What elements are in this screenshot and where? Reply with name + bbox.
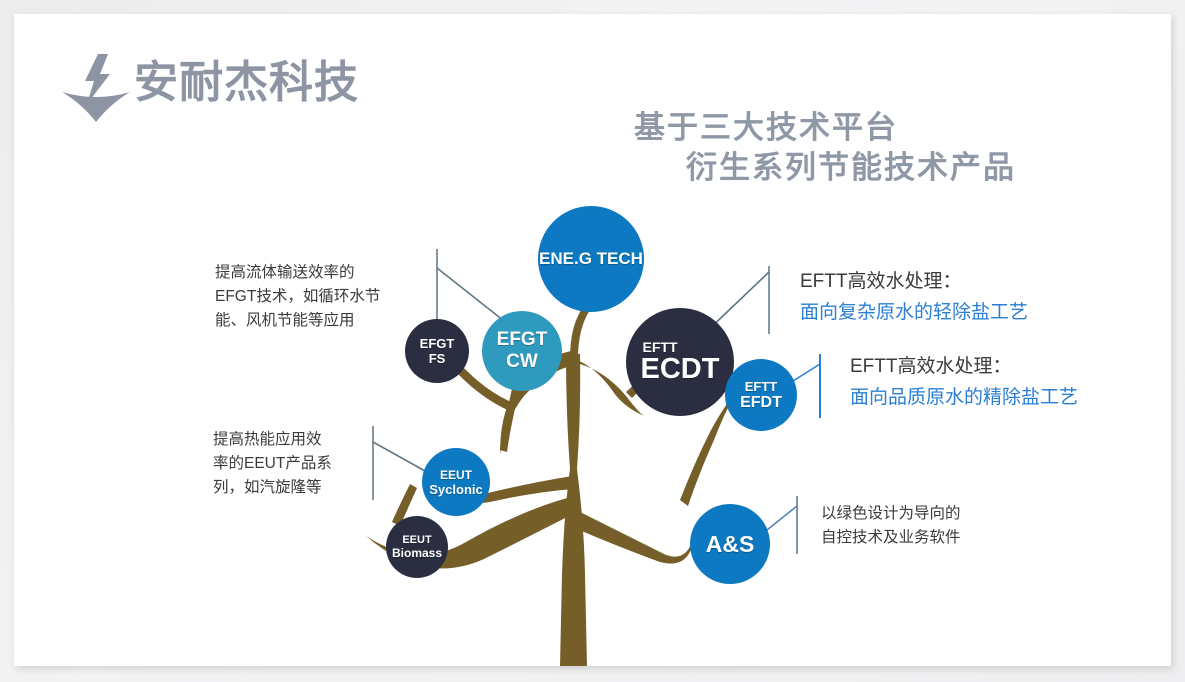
- annotation-line: 列，如汽旋隆等: [213, 476, 363, 500]
- node-label-top: EEUT: [402, 534, 431, 546]
- annotation-right-as: 以绿色设计为导向的 自控技术及业务软件: [821, 502, 1041, 550]
- node-efgt-cw[interactable]: EFGT CW: [482, 311, 562, 391]
- node-label-main: ENE.G TECH: [539, 249, 643, 269]
- node-label-main: ECDT: [641, 353, 720, 386]
- annotation-line: 能、风机节能等应用: [215, 309, 405, 333]
- node-label-top: EEUT: [440, 468, 472, 482]
- annotation-left-eeut: 提高热能应用效 率的EEUT产品系 列，如汽旋隆等: [213, 428, 363, 500]
- node-label-main: Biomass: [392, 546, 442, 560]
- annotation-line: EFTT高效水处理：: [850, 351, 1185, 382]
- node-eeut-biomass[interactable]: EEUT Biomass: [386, 516, 448, 578]
- annotation-line-highlight: 面向品质原水的精除盐工艺: [850, 382, 1185, 413]
- slide-card: 安耐杰科技 基于三大技术平台 衍生系列节能技术产品: [14, 14, 1171, 666]
- annotation-left-efgt: 提高流体输送效率的 EFGT技术，如循环水节 能、风机节能等应用: [215, 261, 405, 333]
- node-label-main: CW: [506, 351, 538, 373]
- annotation-line-highlight: 面向复杂原水的轻除盐工艺: [800, 297, 1140, 328]
- annotation-line: EFGT技术，如循环水节: [215, 285, 405, 309]
- annotation-line: 率的EEUT产品系: [213, 452, 363, 476]
- node-eftt-efdt[interactable]: EFTT EFDT: [725, 359, 797, 431]
- annotation-line: 提高流体输送效率的: [215, 261, 405, 285]
- node-efgt-fs[interactable]: EFGT FS: [405, 319, 469, 383]
- node-label-top: EFGT: [420, 336, 455, 351]
- node-label-top: EFTT: [745, 379, 778, 394]
- node-eftt-ecdt[interactable]: EFTT ECDT: [626, 308, 734, 416]
- node-label-main: EFDT: [740, 394, 782, 412]
- annotation-line: 自控技术及业务软件: [821, 526, 1041, 550]
- node-label-main: FS: [429, 351, 446, 366]
- node-a-and-s[interactable]: A&S: [690, 504, 770, 584]
- node-eeut-syclonic[interactable]: EEUT Syclonic: [422, 448, 490, 516]
- node-label-top: EFGT: [497, 329, 548, 351]
- annotation-line: 以绿色设计为导向的: [821, 502, 1041, 526]
- annotation-right-efdt: EFTT高效水处理： 面向品质原水的精除盐工艺: [850, 351, 1185, 413]
- tree-diagram: [14, 14, 1171, 666]
- annotation-line: EFTT高效水处理：: [800, 266, 1140, 297]
- annotation-right-ecdt: EFTT高效水处理： 面向复杂原水的轻除盐工艺: [800, 266, 1140, 328]
- node-label-main: A&S: [706, 531, 755, 558]
- node-label-main: Syclonic: [429, 482, 482, 497]
- annotation-line: 提高热能应用效: [213, 428, 363, 452]
- node-ene-g-tech[interactable]: ENE.G TECH: [538, 206, 644, 312]
- slide-canvas: 安耐杰科技 基于三大技术平台 衍生系列节能技术产品: [0, 0, 1185, 682]
